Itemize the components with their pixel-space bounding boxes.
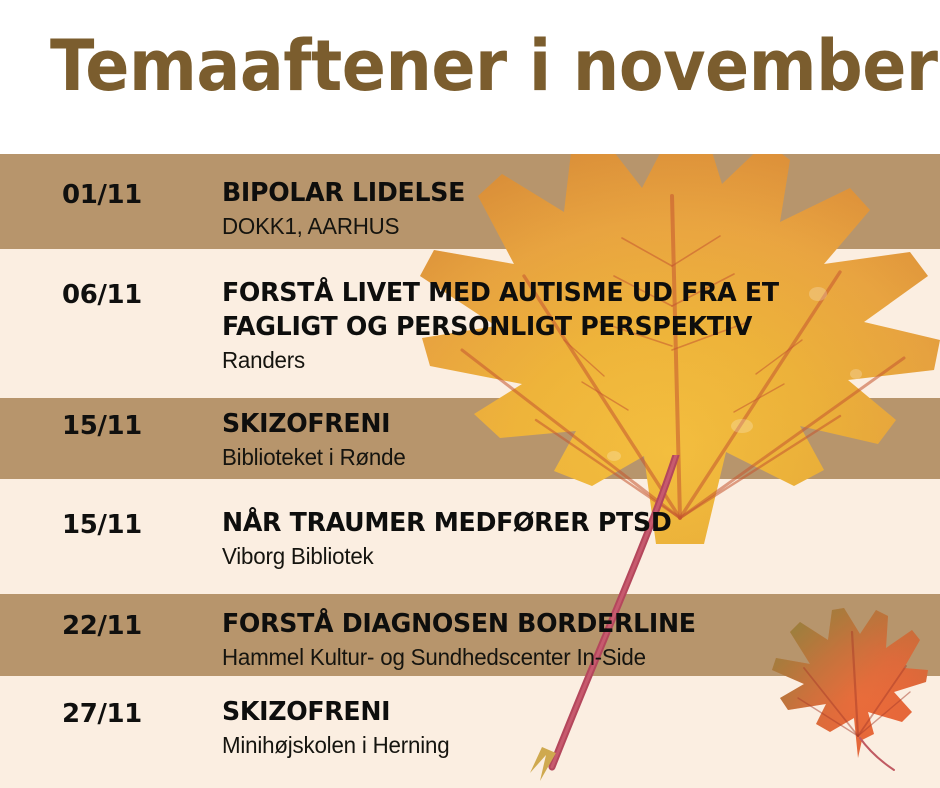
event-title: NÅR TRAUMER MEDFØRER PTSD: [222, 506, 909, 540]
event-date: 01/11: [62, 180, 142, 210]
event-venue: Minihøjskolen i Herning: [222, 730, 909, 760]
event-body: SKIZOFRENI Minihøjskolen i Herning: [222, 695, 930, 760]
event-row: 01/11 BIPOLAR LIDELSE DOKK1, AARHUS: [0, 154, 940, 249]
event-row: 22/11 FORSTÅ DIAGNOSEN BORDERLINE Hammel…: [0, 594, 940, 676]
event-venue: DOKK1, AARHUS: [222, 211, 909, 241]
event-title: SKIZOFRENI: [222, 695, 909, 729]
event-title: BIPOLAR LIDELSE: [222, 176, 909, 210]
event-date: 27/11: [62, 699, 142, 729]
event-title: FORSTÅ LIVET MED AUTISME UD FRA ET FAGLI…: [222, 276, 909, 344]
event-body: FORSTÅ LIVET MED AUTISME UD FRA ET FAGLI…: [222, 276, 930, 375]
event-row: 27/11 SKIZOFRENI Minihøjskolen i Herning: [0, 676, 940, 788]
event-venue: Viborg Bibliotek: [222, 541, 909, 571]
event-date: 22/11: [62, 611, 142, 641]
event-row: 15/11 SKIZOFRENI Biblioteket i Rønde: [0, 398, 940, 479]
event-title: SKIZOFRENI: [222, 407, 909, 441]
page-title: Temaaftener i november: [50, 26, 938, 106]
event-title: FORSTÅ DIAGNOSEN BORDERLINE: [222, 607, 909, 641]
event-venue: Biblioteket i Rønde: [222, 442, 909, 472]
event-row: 06/11 FORSTÅ LIVET MED AUTISME UD FRA ET…: [0, 249, 940, 398]
poster-canvas: 01/11 BIPOLAR LIDELSE DOKK1, AARHUS 06/1…: [0, 0, 940, 788]
event-venue: Hammel Kultur- og Sundhedscenter In-Side: [222, 642, 909, 672]
event-date: 15/11: [62, 411, 142, 441]
event-body: FORSTÅ DIAGNOSEN BORDERLINE Hammel Kultu…: [222, 607, 930, 672]
event-venue: Randers: [222, 345, 909, 375]
event-body: SKIZOFRENI Biblioteket i Rønde: [222, 407, 930, 472]
event-body: BIPOLAR LIDELSE DOKK1, AARHUS: [222, 176, 930, 241]
event-row: 15/11 NÅR TRAUMER MEDFØRER PTSD Viborg B…: [0, 479, 940, 594]
title-area: Temaaftener i november: [0, 0, 940, 154]
event-date: 15/11: [62, 510, 142, 540]
event-date: 06/11: [62, 280, 142, 310]
event-body: NÅR TRAUMER MEDFØRER PTSD Viborg Bibliot…: [222, 506, 930, 571]
